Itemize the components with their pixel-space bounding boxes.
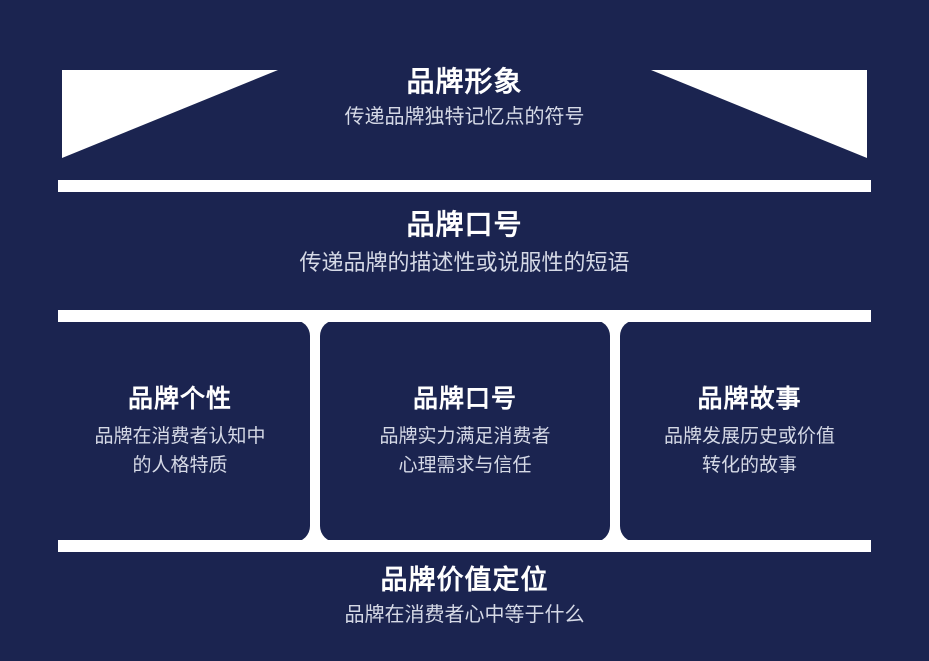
divider-bar-middle xyxy=(58,310,871,322)
tier-brand-slogan-title: 品牌口号 xyxy=(0,206,929,244)
tier-brand-slogan: 品牌口号 传递品牌的描述性或说服性的短语 xyxy=(0,206,929,280)
divider-bar-bottom xyxy=(58,540,871,552)
divider-bar-top xyxy=(58,180,871,192)
card-subtitle: 品牌在消费者认知中 的人格特质 xyxy=(94,422,265,480)
card-title: 品牌个性 xyxy=(128,382,232,416)
brand-pyramid-infographic: 品牌形象 传递品牌独特记忆点的符号 品牌口号 传递品牌的描述性或说服性的短语 品… xyxy=(0,0,929,661)
tier-card-row: 品牌个性 品牌在消费者认知中 的人格特质 品牌口号 品牌实力满足消费者 心理需求… xyxy=(58,310,871,552)
tier-brand-slogan-subtitle: 传递品牌的描述性或说服性的短语 xyxy=(0,246,929,280)
card-brand-slogan[interactable]: 品牌口号 品牌实力满足消费者 心理需求与信任 xyxy=(320,320,610,542)
card-subtitle: 品牌实力满足消费者 心理需求与信任 xyxy=(379,422,550,480)
card-title: 品牌口号 xyxy=(413,382,517,416)
card-brand-personality[interactable]: 品牌个性 品牌在消费者认知中 的人格特质 xyxy=(50,320,310,542)
tier-brand-image-subtitle: 传递品牌独特记忆点的符号 xyxy=(0,102,929,132)
tier-brand-image-text: 品牌形象 传递品牌独特记忆点的符号 xyxy=(0,64,929,132)
tier-brand-image-title: 品牌形象 xyxy=(0,64,929,100)
tier-brand-value: 品牌价值定位 品牌在消费者心中等于什么 xyxy=(0,562,929,630)
tier-brand-value-title: 品牌价值定位 xyxy=(0,562,929,598)
tier-brand-value-subtitle: 品牌在消费者心中等于什么 xyxy=(0,600,929,630)
card-subtitle: 品牌发展历史或价值 转化的故事 xyxy=(664,422,835,480)
card-title: 品牌故事 xyxy=(697,382,801,416)
card-brand-story[interactable]: 品牌故事 品牌发展历史或价值 转化的故事 xyxy=(620,320,879,542)
tier-brand-image: 品牌形象 传递品牌独特记忆点的符号 xyxy=(0,58,929,170)
